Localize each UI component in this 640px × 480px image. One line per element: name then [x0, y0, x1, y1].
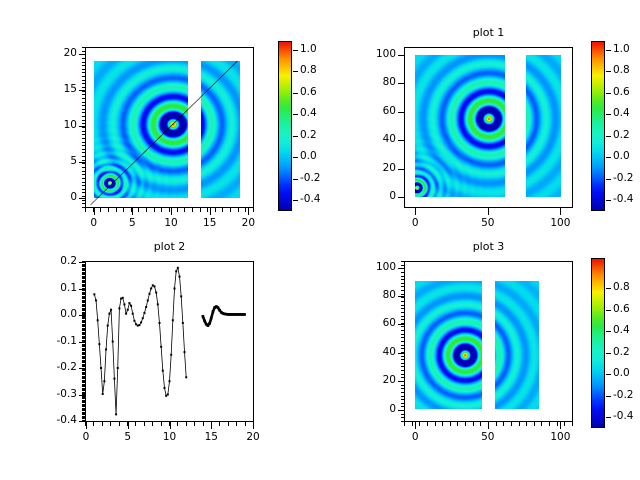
y-minor-tick — [401, 316, 404, 317]
x-minor-tick — [480, 422, 481, 426]
y-minor-tick — [401, 359, 404, 360]
y-minor-tick — [401, 366, 404, 367]
plot-bottom-right-axes-frame — [404, 261, 573, 422]
y-minor-tick — [401, 396, 404, 397]
colorbar-tick — [606, 310, 611, 311]
y-minor-tick — [401, 385, 404, 386]
x-minor-tick — [496, 422, 497, 426]
x-major-tick — [560, 422, 561, 429]
y-minor-tick — [401, 283, 404, 284]
plot-bottom-right-title: plot 3 — [404, 240, 573, 253]
y-tick-label: 80 — [346, 289, 396, 301]
y-minor-tick — [401, 341, 404, 342]
y-minor-tick — [401, 308, 404, 309]
y-minor-tick — [401, 276, 404, 277]
y-major-tick — [398, 324, 404, 325]
y-minor-tick — [401, 370, 404, 371]
x-minor-tick — [557, 422, 558, 426]
y-minor-tick — [401, 356, 404, 357]
x-minor-tick — [572, 422, 573, 426]
y-minor-tick — [401, 374, 404, 375]
x-minor-tick — [564, 422, 565, 426]
x-minor-tick — [442, 422, 443, 426]
x-minor-tick — [404, 422, 405, 426]
y-minor-tick — [401, 406, 404, 407]
x-minor-tick — [457, 422, 458, 426]
x-minor-tick — [435, 422, 436, 426]
plot-bottom-right: plot 30204060801000501000.80.60.40.20.0-… — [0, 0, 640, 480]
y-minor-tick — [401, 345, 404, 346]
x-minor-tick — [427, 422, 428, 426]
y-major-tick — [398, 268, 404, 269]
figure-canvas: 05101520051015201.00.80.60.40.20.0-0.2-0… — [0, 0, 640, 480]
x-minor-tick — [519, 422, 520, 426]
y-major-tick — [398, 296, 404, 297]
colorbar-tick-label: -0.2 — [613, 389, 634, 401]
colorbar-tick — [606, 331, 611, 332]
x-minor-tick — [541, 422, 542, 426]
y-major-tick — [398, 353, 404, 354]
y-minor-tick — [401, 334, 404, 335]
y-minor-tick — [401, 348, 404, 349]
x-minor-tick — [465, 422, 466, 426]
y-minor-tick — [401, 326, 404, 327]
y-minor-tick — [401, 305, 404, 306]
colorbar-tick-label: 0.0 — [613, 367, 630, 379]
x-tick-label: 0 — [390, 431, 440, 443]
y-tick-label: 40 — [346, 346, 396, 358]
y-major-tick — [398, 381, 404, 382]
y-minor-tick — [401, 392, 404, 393]
y-minor-tick — [401, 297, 404, 298]
y-minor-tick — [401, 301, 404, 302]
x-minor-tick — [450, 422, 451, 426]
colorbar-tick-label: -0.4 — [613, 410, 634, 422]
y-minor-tick — [401, 414, 404, 415]
x-minor-tick — [549, 422, 550, 426]
y-minor-tick — [401, 377, 404, 378]
y-tick-label: 0 — [346, 403, 396, 415]
colorbar-tick — [606, 396, 611, 397]
x-minor-tick — [412, 422, 413, 426]
y-minor-tick — [401, 279, 404, 280]
x-minor-tick — [473, 422, 474, 426]
x-major-tick — [415, 422, 416, 429]
colorbar-tick — [606, 288, 611, 289]
x-minor-tick — [511, 422, 512, 426]
y-minor-tick — [401, 272, 404, 273]
y-minor-tick — [401, 330, 404, 331]
x-minor-tick — [534, 422, 535, 426]
y-minor-tick — [401, 286, 404, 287]
y-minor-tick — [401, 337, 404, 338]
y-tick-label: 100 — [346, 261, 396, 273]
plot-bottom-right-image-right — [495, 281, 539, 409]
x-minor-tick — [503, 422, 504, 426]
y-tick-label: 20 — [346, 374, 396, 386]
y-major-tick — [398, 410, 404, 411]
colorbar-tick — [606, 353, 611, 354]
y-minor-tick — [401, 261, 404, 262]
plot-bottom-right-colorbar — [591, 258, 605, 428]
y-minor-tick — [401, 290, 404, 291]
y-minor-tick — [401, 294, 404, 295]
y-minor-tick — [401, 399, 404, 400]
y-minor-tick — [401, 265, 404, 266]
colorbar-tick — [606, 374, 611, 375]
colorbar-tick-label: 0.8 — [613, 281, 630, 293]
colorbar-tick-label: 0.2 — [613, 346, 630, 358]
y-minor-tick — [401, 312, 404, 313]
y-minor-tick — [401, 363, 404, 364]
colorbar-tick-label: 0.4 — [613, 324, 630, 336]
y-minor-tick — [401, 403, 404, 404]
colorbar-tick-label: 0.6 — [613, 303, 630, 315]
y-minor-tick — [401, 319, 404, 320]
x-major-tick — [488, 422, 489, 429]
x-tick-label: 100 — [535, 431, 585, 443]
plot-bottom-right-image-left — [415, 281, 482, 409]
y-minor-tick — [401, 417, 404, 418]
colorbar-tick — [606, 417, 611, 418]
x-tick-label: 50 — [463, 431, 513, 443]
x-minor-tick — [526, 422, 527, 426]
x-minor-tick — [419, 422, 420, 426]
y-minor-tick — [401, 388, 404, 389]
y-tick-label: 60 — [346, 317, 396, 329]
